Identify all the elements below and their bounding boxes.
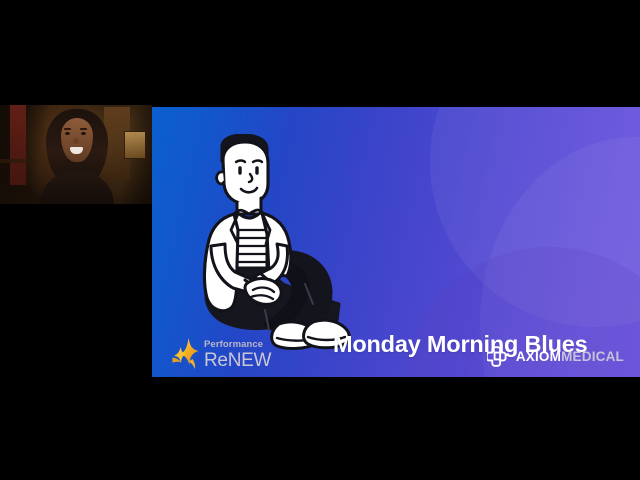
renew-line-2: ReNEW bbox=[204, 351, 271, 370]
background-wall-panel bbox=[10, 105, 26, 185]
axiom-word-primary: AXIOM bbox=[516, 349, 561, 364]
speaker-avatar bbox=[40, 109, 114, 204]
speaker-video-panel[interactable] bbox=[0, 105, 152, 204]
medical-cross-icon bbox=[487, 345, 509, 367]
speaker-eye-right bbox=[81, 132, 86, 135]
renew-wordmark: Performance ReNEW bbox=[204, 338, 271, 370]
background-shelf bbox=[0, 159, 34, 163]
performance-renew-logo: Performance ReNEW bbox=[170, 337, 271, 371]
axiom-word-secondary: MEDICAL bbox=[561, 349, 624, 364]
renew-line-1: Performance bbox=[204, 340, 271, 350]
presentation-slide[interactable]: Monday Morning Blues bbox=[152, 107, 640, 377]
speaker-brow-left bbox=[64, 128, 71, 130]
seated-person-illustration bbox=[187, 134, 357, 356]
screen: Monday Morning Blues bbox=[0, 0, 640, 480]
axiom-medical-logo: AXIOMMEDICAL bbox=[487, 345, 624, 367]
background-picture-frame bbox=[124, 131, 146, 159]
axiom-wordmark: AXIOMMEDICAL bbox=[516, 349, 624, 364]
speaker-eye-left bbox=[65, 132, 70, 135]
speaker-torso bbox=[40, 171, 114, 204]
star-swoosh-icon bbox=[170, 337, 200, 371]
speaker-brow-right bbox=[80, 128, 87, 130]
speaker-nose bbox=[73, 138, 79, 144]
